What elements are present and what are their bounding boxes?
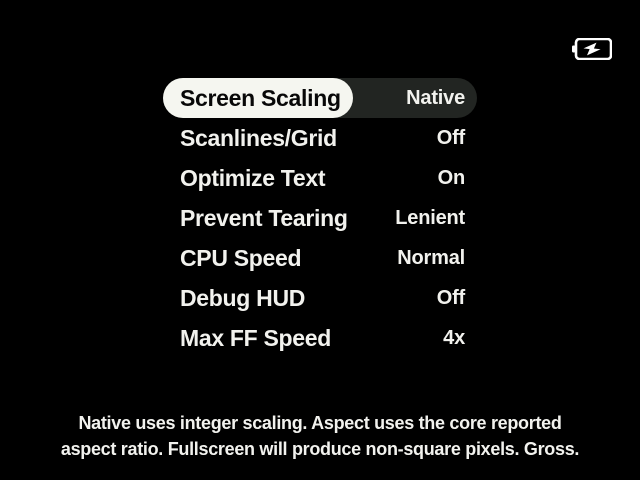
menu-row-prevent-tearing[interactable]: Prevent Tearing Lenient: [163, 198, 477, 238]
menu-row-scanlines-grid[interactable]: Scanlines/Grid Off: [163, 118, 477, 158]
menu-item-label: Screen Scaling: [163, 78, 341, 118]
menu-item-label: CPU Speed: [163, 238, 301, 278]
menu-item-label: Max FF Speed: [163, 318, 331, 358]
menu-item-label: Prevent Tearing: [163, 198, 348, 238]
menu-row-max-ff-speed[interactable]: Max FF Speed 4x: [163, 318, 477, 358]
battery-charging-icon: [572, 38, 612, 60]
menu-item-label: Debug HUD: [163, 278, 305, 318]
menu-item-label: Scanlines/Grid: [163, 118, 337, 158]
settings-screen: Screen Scaling Native Scanlines/Grid Off…: [0, 0, 640, 480]
footer-help-line-2: aspect ratio. Fullscreen will produce no…: [18, 436, 622, 462]
menu-item-value[interactable]: On: [438, 158, 477, 198]
menu-row-screen-scaling[interactable]: Screen Scaling Native: [163, 78, 477, 118]
status-bar: [0, 0, 640, 72]
menu-item-value[interactable]: Off: [437, 118, 477, 158]
footer-help-text: Native uses integer scaling. Aspect uses…: [0, 410, 640, 462]
menu-item-value[interactable]: Off: [437, 278, 477, 318]
settings-menu[interactable]: Screen Scaling Native Scanlines/Grid Off…: [163, 78, 477, 358]
menu-row-cpu-speed[interactable]: CPU Speed Normal: [163, 238, 477, 278]
menu-row-optimize-text[interactable]: Optimize Text On: [163, 158, 477, 198]
footer-help-line-1: Native uses integer scaling. Aspect uses…: [18, 410, 622, 436]
menu-item-label: Optimize Text: [163, 158, 325, 198]
menu-item-value[interactable]: Normal: [397, 238, 477, 278]
menu-item-value[interactable]: Native: [406, 78, 477, 118]
menu-item-value[interactable]: 4x: [443, 318, 477, 358]
menu-item-value[interactable]: Lenient: [395, 198, 477, 238]
menu-row-debug-hud[interactable]: Debug HUD Off: [163, 278, 477, 318]
